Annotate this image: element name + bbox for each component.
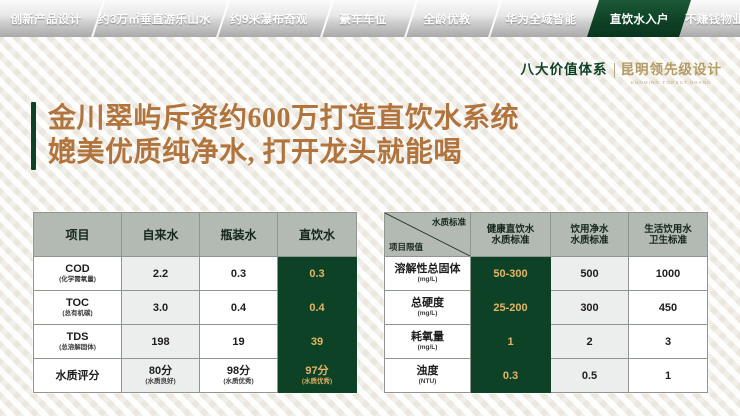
cell-toc-bottled: 0.4	[200, 291, 278, 325]
cell-hardness-domestic: 450	[629, 291, 708, 325]
table-row: 总硬度 (mg/L) 25-200 300 450	[385, 291, 708, 325]
cell-value: 98分	[200, 365, 277, 377]
row-label-main: COD	[34, 263, 121, 275]
col-header-line-1: 健康直饮水	[471, 224, 550, 235]
col-header-tap-water: 自来水	[122, 213, 200, 257]
brand-english-caption: KUNMING FOREST BRAND	[621, 80, 723, 85]
nav-tab-huawei-smart-home[interactable]: 华为全域智能	[489, 0, 593, 37]
cell-turbidity-healthy: 0.3	[471, 359, 551, 393]
col-header-line-2: 卫生标准	[629, 235, 707, 246]
nav-tab-non-profit-property[interactable]: 不赚钱物业	[685, 0, 740, 37]
cell-hardness-purified: 300	[551, 291, 629, 325]
cell-toc-tap: 3.0	[122, 291, 200, 325]
cell-score-bottled: 98分 (水质优秀)	[200, 359, 278, 393]
headline-block: 金川翠屿斥资约600万打造直饮水系统 媲美优质纯净水, 打开龙头就能喝	[31, 102, 519, 170]
row-label-sub: (mg/L)	[385, 344, 470, 352]
cell-hardness-healthy: 25-200	[471, 291, 551, 325]
nav-tab-label: 约3万㎡垂直游乐山水	[98, 11, 211, 27]
cell-toc-direct: 0.4	[278, 291, 357, 325]
col-header-direct-drinking-water: 直饮水	[278, 213, 357, 257]
nav-tab-label: 不赚钱物业	[685, 11, 740, 27]
corner-header-limit: 项目限值	[389, 242, 423, 252]
row-label-tds: TDS (总溶解固体)	[34, 325, 122, 359]
col-header-healthy-direct-drinking: 健康直饮水 水质标准	[471, 213, 551, 257]
row-label-main: 浊度	[385, 365, 470, 377]
cell-oxygen-purified: 2	[551, 325, 629, 359]
nav-tab-luxury-parking[interactable]: 豪车车位	[321, 0, 405, 37]
cell-tds-domestic: 1000	[629, 257, 708, 291]
brand-subtitle-group: 昆明领先级设计 KUNMING FOREST BRAND	[621, 62, 723, 85]
cell-value-sub: (水质良好)	[122, 378, 199, 386]
brand-subtitle: 昆明领先级设计	[621, 62, 723, 78]
row-label-sub: (mg/L)	[385, 276, 470, 284]
cell-tds-purified: 500	[551, 257, 629, 291]
row-label-oxygen-consumption: 耗氧量 (mg/L)	[385, 325, 471, 359]
row-label-sub: (总有机碳)	[34, 310, 121, 318]
col-header-line-1: 生活饮用水	[629, 224, 707, 235]
col-header-line-2: 水质标准	[471, 235, 550, 246]
row-label-sub: (NTU)	[385, 378, 470, 386]
nav-tab-label: 华为全域智能	[506, 11, 577, 27]
cell-turbidity-domestic: 1	[629, 359, 708, 393]
brand-main-title: 八大价值体系	[521, 62, 608, 78]
table-row: COD (化学需氧量) 2.2 0.3 0.3	[34, 257, 357, 291]
cell-cod-bottled: 0.3	[200, 257, 278, 291]
row-label-main: 溶解性总固体	[385, 263, 470, 275]
row-label-total-dissolved-solids: 溶解性总固体 (mg/L)	[385, 257, 471, 291]
cell-value: 97分	[278, 365, 356, 377]
nav-tab-waterfall[interactable]: 约9米瀑布奇观	[217, 0, 321, 37]
top-navigation-bar: 创新产品设计 约3万㎡垂直游乐山水 约9米瀑布奇观 豪车车位 全龄优教 华为全域…	[0, 0, 740, 37]
cell-tds-healthy: 50-300	[471, 257, 551, 291]
water-standards-table: 水质标准 项目限值 健康直饮水 水质标准 饮用净水 水质标准 生活饮用水 卫生标…	[384, 212, 708, 393]
nav-tab-label: 创新产品设计	[11, 11, 82, 27]
water-comparison-table: 项目 自来水 瓶装水 直饮水 COD (化学需氧量) 2.2 0.3 0.3 T…	[33, 212, 357, 393]
col-header-line-2: 水质标准	[551, 235, 628, 246]
cell-turbidity-purified: 0.5	[551, 359, 629, 393]
row-label-water-quality-score: 水质评分	[34, 359, 122, 393]
cell-value: 80分	[122, 365, 199, 377]
row-label-main: TOC	[34, 297, 121, 309]
row-label-main: TDS	[34, 331, 121, 343]
headline-line-2: 媲美优质纯净水, 打开龙头就能喝	[48, 136, 519, 170]
headline-line-1: 金川翠屿斥资约600万打造直饮水系统	[48, 102, 519, 136]
row-label-turbidity: 浊度 (NTU)	[385, 359, 471, 393]
page-title: 金川翠屿斥资约600万打造直饮水系统 媲美优质纯净水, 打开龙头就能喝	[48, 102, 519, 170]
table-row: 溶解性总固体 (mg/L) 50-300 500 1000	[385, 257, 708, 291]
headline-accent-bar	[31, 102, 36, 170]
cell-score-tap: 80分 (水质良好)	[122, 359, 200, 393]
row-label-cod: COD (化学需氧量)	[34, 257, 122, 291]
row-label-main: 耗氧量	[385, 331, 470, 343]
corner-header-cell: 水质标准 项目限值	[385, 213, 471, 257]
slide-canvas: 创新产品设计 约3万㎡垂直游乐山水 约9米瀑布奇观 豪车车位 全龄优教 华为全域…	[0, 0, 740, 416]
cell-cod-tap: 2.2	[122, 257, 200, 291]
brand-divider	[614, 63, 615, 78]
nav-tab-vertical-landscape[interactable]: 约3万㎡垂直游乐山水	[92, 0, 217, 37]
row-label-sub: (化学需氧量)	[34, 276, 121, 284]
row-label-total-hardness: 总硬度 (mg/L)	[385, 291, 471, 325]
nav-tab-direct-drinking-water[interactable]: 直饮水入户	[587, 0, 691, 37]
row-label-main: 总硬度	[385, 297, 470, 309]
corner-header-standard: 水质标准	[432, 217, 466, 227]
cell-cod-direct: 0.3	[278, 257, 357, 291]
cell-tds-direct: 39	[278, 325, 357, 359]
row-label-toc: TOC (总有机碳)	[34, 291, 122, 325]
cell-tds-tap: 198	[122, 325, 200, 359]
table-header-row: 项目 自来水 瓶装水 直饮水	[34, 213, 357, 257]
row-label-sub: (mg/L)	[385, 310, 470, 318]
cell-tds-bottled: 19	[200, 325, 278, 359]
nav-tab-label: 约9米瀑布奇观	[230, 11, 308, 27]
col-header-domestic-water: 生活饮用水 卫生标准	[629, 213, 708, 257]
table-row: 水质评分 80分 (水质良好) 98分 (水质优秀) 97分 (水质优秀)	[34, 359, 357, 393]
cell-oxygen-domestic: 3	[629, 325, 708, 359]
table-row: 耗氧量 (mg/L) 1 2 3	[385, 325, 708, 359]
nav-tab-label: 直饮水入户	[610, 11, 669, 27]
col-header-line-1: 饮用净水	[551, 224, 628, 235]
col-header-bottled-water: 瓶装水	[200, 213, 278, 257]
row-label-main: 水质评分	[34, 370, 121, 382]
col-header-item: 项目	[34, 213, 122, 257]
col-header-purified-water: 饮用净水 水质标准	[551, 213, 629, 257]
table-header-row: 水质标准 项目限值 健康直饮水 水质标准 饮用净水 水质标准 生活饮用水 卫生标…	[385, 213, 708, 257]
cell-value-sub: (水质优秀)	[278, 378, 356, 386]
cell-score-direct: 97分 (水质优秀)	[278, 359, 357, 393]
nav-tab-label: 豪车车位	[339, 11, 386, 27]
table-row: TOC (总有机碳) 3.0 0.4 0.4	[34, 291, 357, 325]
table-row: 浊度 (NTU) 0.3 0.5 1	[385, 359, 708, 393]
nav-tab-innovative-product-design[interactable]: 创新产品设计	[0, 0, 92, 37]
nav-tab-all-age-education[interactable]: 全龄优教	[405, 0, 489, 37]
nav-tab-label: 全龄优教	[423, 11, 470, 27]
cell-value-sub: (水质优秀)	[200, 378, 277, 386]
row-label-sub: (总溶解固体)	[34, 344, 121, 352]
brand-mark: 八大价值体系 昆明领先级设计 KUNMING FOREST BRAND	[521, 62, 723, 85]
table-row: TDS (总溶解固体) 198 19 39	[34, 325, 357, 359]
cell-oxygen-healthy: 1	[471, 325, 551, 359]
